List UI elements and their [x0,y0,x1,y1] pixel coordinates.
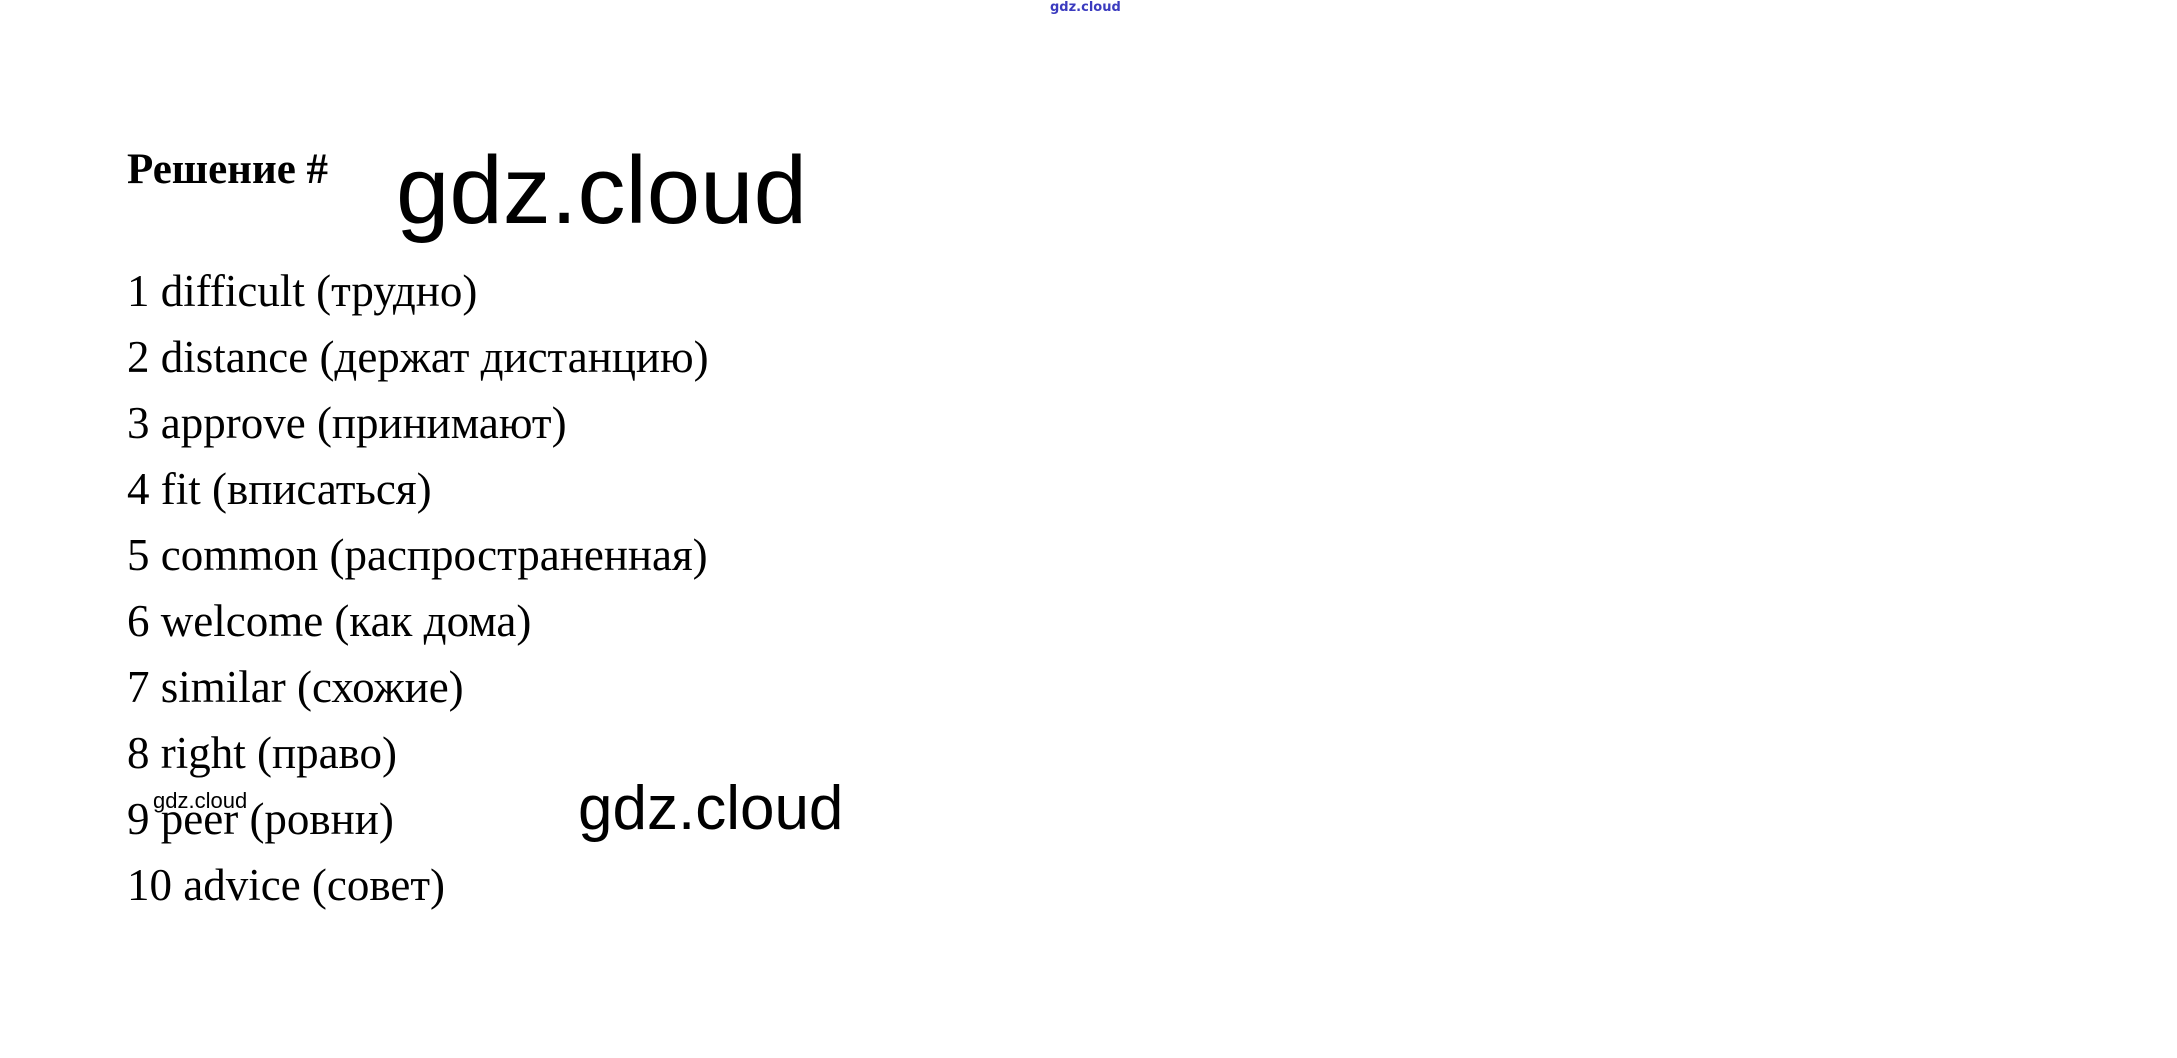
answer-number: 3 [127,398,150,448]
answer-number: 1 [127,266,150,316]
answer-gloss: (держат дистанцию) [319,332,708,382]
answer-word: similar [161,662,286,712]
page-title: Решение # [127,148,328,191]
list-item: 4 fit (вписаться) [127,456,1127,522]
watermark-tiny-gdz-cloud: gdz.cloud [153,790,247,812]
answer-number: 4 [127,464,150,514]
answer-number: 10 [127,860,172,910]
answer-gloss: (вписаться) [212,464,432,514]
answer-word: right [161,728,246,778]
answer-word: approve [161,398,306,448]
list-item: 5 common (распространенная) [127,522,1127,588]
watermark-top-gdz-cloud: gdz.cloud [1050,0,1121,15]
answer-number: 5 [127,530,150,580]
list-item: 6 welcome (как дома) [127,588,1127,654]
answer-number: 8 [127,728,150,778]
answer-number: 2 [127,332,150,382]
answer-number: 7 [127,662,150,712]
answer-gloss: (распространенная) [329,530,707,580]
list-item: 10 advice (совет) [127,852,1127,918]
watermark-lower-gdz-cloud: gdz.cloud [578,778,843,840]
answer-gloss: (как дома) [334,596,531,646]
answer-gloss: (ровни) [249,794,393,844]
answer-word: fit [161,464,201,514]
answer-gloss: (принимают) [317,398,567,448]
list-item: 1 difficult (трудно) [127,258,1127,324]
answer-number: 6 [127,596,150,646]
answer-gloss: (право) [257,728,397,778]
answer-word: difficult [161,266,305,316]
answer-word: welcome [161,596,323,646]
answer-gloss: (схожие) [297,662,464,712]
solution-page: gdz.cloud Решение # gdz.cloud 1 difficul… [0,0,2177,1058]
answer-number: 9 [127,794,150,844]
answer-gloss: (трудно) [316,266,477,316]
answer-word: common [161,530,318,580]
answer-word: distance [161,332,308,382]
list-item: 7 similar (схожие) [127,654,1127,720]
answer-gloss: (совет) [312,860,445,910]
watermark-heading-gdz-cloud: gdz.cloud [396,143,807,239]
list-item: 3 approve (принимают) [127,390,1127,456]
answer-word: advice [183,860,300,910]
list-item: 2 distance (держат дистанцию) [127,324,1127,390]
